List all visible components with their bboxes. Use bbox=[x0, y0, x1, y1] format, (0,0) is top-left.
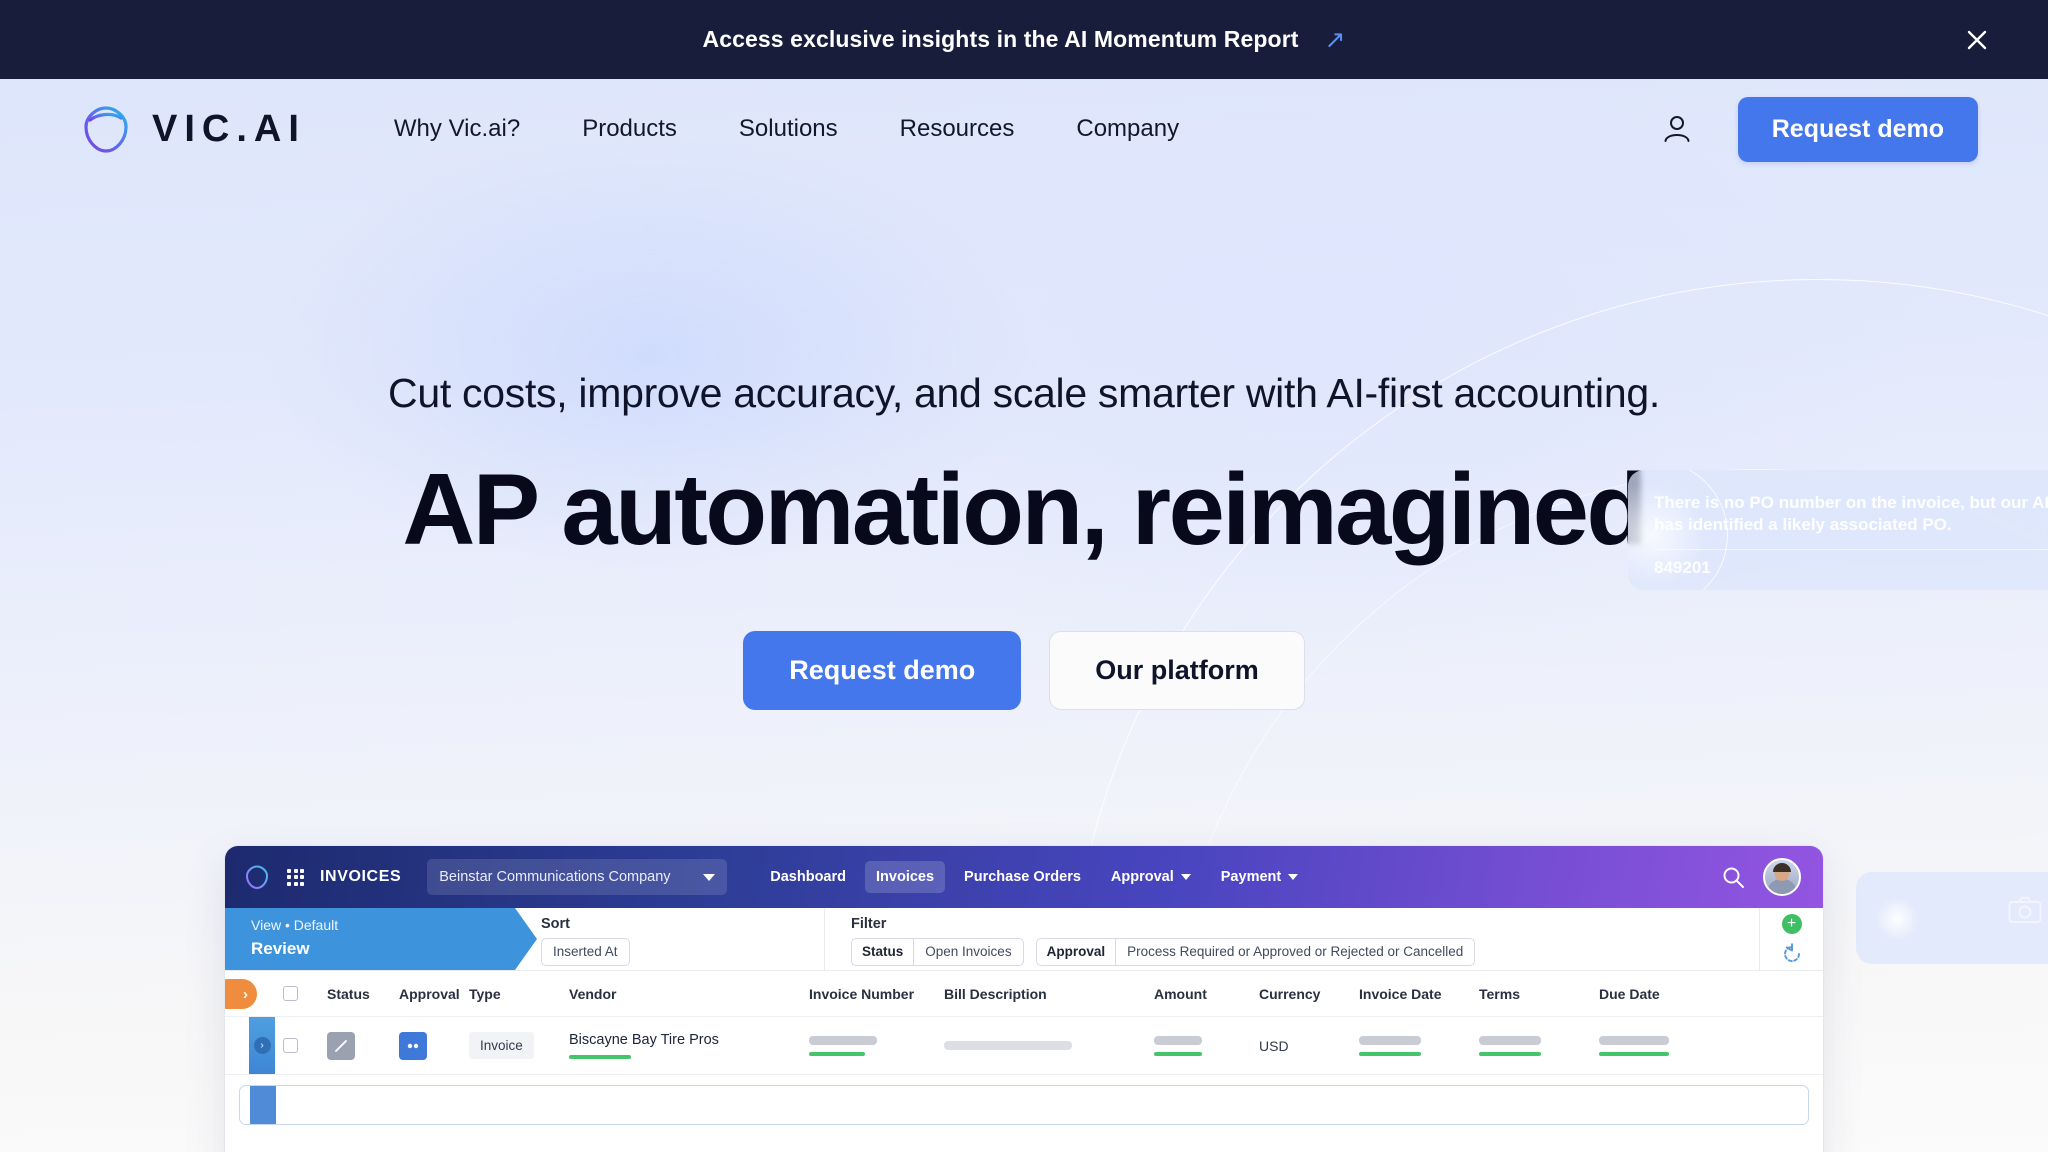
redacted-value bbox=[944, 1041, 1072, 1050]
column-status[interactable]: Status bbox=[327, 986, 399, 1002]
type-tag: Invoice bbox=[469, 1032, 534, 1059]
app-nav-dashboard[interactable]: Dashboard bbox=[759, 861, 857, 893]
app-logo-icon[interactable] bbox=[243, 863, 271, 891]
announcement-link[interactable]: Access exclusive insights in the AI Mome… bbox=[703, 26, 1346, 53]
cell-invoice-number bbox=[809, 1036, 944, 1056]
approval-filter-key: Approval bbox=[1037, 939, 1117, 965]
hero-subheading: Cut costs, improve accuracy, and scale s… bbox=[0, 370, 2048, 417]
app-filterbar: View • Default Review Sort Inserted At F… bbox=[225, 908, 1823, 971]
status-filter-value: Open Invoices bbox=[914, 939, 1022, 965]
cell-amount bbox=[1154, 1036, 1259, 1056]
close-icon[interactable] bbox=[1962, 25, 1992, 55]
apps-grid-icon[interactable] bbox=[287, 869, 304, 886]
camera-icon bbox=[2008, 896, 2042, 924]
page-root: Access exclusive insights in the AI Mome… bbox=[0, 0, 2048, 1152]
cell-bill-description bbox=[944, 1041, 1154, 1050]
ai-po-insight-card: There is no PO number on the invoice, bu… bbox=[1628, 470, 2048, 590]
product-screenshot: INVOICES Beinstar Communications Company… bbox=[224, 845, 1824, 1152]
external-link-arrow-icon: ↗ bbox=[1325, 28, 1346, 53]
cell-approval bbox=[399, 1032, 469, 1060]
chevron-right-icon[interactable]: › bbox=[224, 979, 257, 1009]
column-invoice-date[interactable]: Invoice Date bbox=[1359, 986, 1479, 1002]
column-type[interactable]: Type bbox=[469, 986, 569, 1002]
app-topbar: INVOICES Beinstar Communications Company… bbox=[225, 846, 1823, 908]
filter-title: Filter bbox=[851, 916, 1759, 932]
vic-ai-logo-icon bbox=[78, 101, 134, 157]
sort-section: Sort Inserted At bbox=[515, 908, 825, 970]
logo-wordmark: VIC.AI bbox=[152, 108, 306, 151]
confidence-underline bbox=[1359, 1052, 1421, 1056]
nav-item-company[interactable]: Company bbox=[1076, 115, 1179, 143]
status-filter-pill[interactable]: Status Open Invoices bbox=[851, 938, 1024, 966]
ai-po-values: 849201 0.9 bbox=[1654, 558, 2048, 578]
chevron-down-icon bbox=[1181, 874, 1191, 880]
request-demo-button-header[interactable]: Request demo bbox=[1738, 97, 1978, 162]
cell-type: Invoice bbox=[469, 1032, 569, 1059]
app-nav: Dashboard Invoices Purchase Orders Appro… bbox=[759, 861, 1309, 893]
column-currency[interactable]: Currency bbox=[1259, 986, 1359, 1002]
redacted-value bbox=[1599, 1036, 1669, 1045]
app-nav-payment-label: Payment bbox=[1221, 869, 1281, 885]
app-nav-invoices[interactable]: Invoices bbox=[865, 861, 945, 893]
chevron-down-icon bbox=[703, 874, 715, 881]
approval-filter-pill[interactable]: Approval Process Required or Approved or… bbox=[1036, 938, 1476, 966]
filter-actions: + bbox=[1759, 908, 1823, 970]
table-row[interactable]: › Invoice Biscayne Bay Tire Pros bbox=[225, 1017, 1823, 1075]
cell-status bbox=[327, 1032, 399, 1060]
table-header: › Status Approval Type Vendor Invoice Nu… bbox=[225, 971, 1823, 1017]
app-topbar-actions bbox=[1721, 858, 1823, 896]
person-icon[interactable] bbox=[1660, 112, 1694, 146]
status-icon bbox=[327, 1032, 355, 1060]
status-filter-key: Status bbox=[852, 939, 914, 965]
app-nav-purchase-orders-label: Purchase Orders bbox=[964, 869, 1081, 885]
view-label: View • Default bbox=[251, 917, 515, 933]
select-all-checkbox[interactable] bbox=[283, 986, 298, 1001]
row-expand-handle[interactable]: › bbox=[249, 1017, 275, 1074]
column-invoice-number[interactable]: Invoice Number bbox=[809, 986, 944, 1002]
avatar[interactable] bbox=[1763, 858, 1801, 896]
tenant-select[interactable]: Beinstar Communications Company bbox=[427, 859, 727, 895]
site-logo[interactable]: VIC.AI bbox=[78, 101, 306, 157]
search-icon[interactable] bbox=[1721, 865, 1745, 889]
our-platform-button[interactable]: Our platform bbox=[1049, 631, 1305, 710]
refresh-icon[interactable] bbox=[1781, 943, 1803, 965]
redacted-value bbox=[1359, 1036, 1421, 1045]
cell-due-date bbox=[1599, 1036, 1719, 1056]
primary-nav: Why Vic.ai? Products Solutions Resources… bbox=[394, 115, 1179, 143]
cell-vendor: Biscayne Bay Tire Pros bbox=[569, 1032, 809, 1059]
app-nav-approval-label: Approval bbox=[1111, 869, 1174, 885]
currency-value: USD bbox=[1259, 1038, 1289, 1054]
redacted-value bbox=[1154, 1036, 1202, 1045]
nav-item-why-vicai[interactable]: Why Vic.ai? bbox=[394, 115, 520, 143]
confidence-underline bbox=[1599, 1052, 1669, 1056]
nav-item-products[interactable]: Products bbox=[582, 115, 677, 143]
column-approval[interactable]: Approval bbox=[399, 986, 469, 1002]
request-demo-button-hero[interactable]: Request demo bbox=[743, 631, 1021, 710]
column-terms[interactable]: Terms bbox=[1479, 986, 1599, 1002]
glow-decoration bbox=[1866, 888, 1928, 950]
hero-cta-group: Request demo Our platform bbox=[0, 631, 2048, 710]
announcement-banner[interactable]: Access exclusive insights in the AI Mome… bbox=[0, 0, 2048, 79]
plus-icon[interactable]: + bbox=[1782, 914, 1802, 934]
header-actions: Request demo bbox=[1660, 97, 1978, 162]
nav-item-resources[interactable]: Resources bbox=[900, 115, 1015, 143]
confidence-underline bbox=[1154, 1052, 1202, 1056]
app-nav-invoices-label: Invoices bbox=[876, 869, 934, 885]
app-nav-approval[interactable]: Approval bbox=[1100, 861, 1202, 893]
cell-terms bbox=[1479, 1036, 1599, 1056]
row-checkbox[interactable] bbox=[283, 1038, 298, 1053]
confidence-underline bbox=[1479, 1052, 1541, 1056]
vendor-name: Biscayne Bay Tire Pros bbox=[569, 1032, 809, 1048]
confidence-underline bbox=[809, 1052, 865, 1056]
confidence-underline bbox=[569, 1055, 631, 1059]
ai-capture-card bbox=[1856, 872, 2048, 964]
po-number: 849201 bbox=[1654, 558, 1711, 578]
row-expand-handle[interactable] bbox=[250, 1086, 276, 1124]
chevron-down-icon bbox=[1288, 874, 1298, 880]
tenant-name: Beinstar Communications Company bbox=[439, 869, 670, 885]
ai-po-insight-text: There is no PO number on the invoice, bu… bbox=[1654, 492, 2048, 537]
redacted-value bbox=[1479, 1036, 1541, 1045]
app-nav-purchase-orders[interactable]: Purchase Orders bbox=[953, 861, 1092, 893]
filter-section: Filter Status Open Invoices Approval Pro… bbox=[825, 908, 1759, 970]
view-value: Review bbox=[251, 939, 515, 959]
nav-item-solutions[interactable]: Solutions bbox=[739, 115, 838, 143]
column-due-date[interactable]: Due Date bbox=[1599, 986, 1719, 1002]
redacted-value bbox=[809, 1036, 877, 1045]
view-selector[interactable]: View • Default Review bbox=[225, 908, 515, 970]
site-header: VIC.AI Why Vic.ai? Products Solutions Re… bbox=[0, 79, 2048, 179]
sort-pill[interactable]: Inserted At bbox=[541, 938, 630, 966]
column-amount[interactable]: Amount bbox=[1154, 986, 1259, 1002]
column-bill-description[interactable]: Bill Description bbox=[944, 986, 1154, 1002]
announcement-text: Access exclusive insights in the AI Mome… bbox=[703, 26, 1299, 53]
sort-value: Inserted At bbox=[542, 939, 629, 965]
cell-invoice-date bbox=[1359, 1036, 1479, 1056]
sort-title: Sort bbox=[541, 916, 824, 932]
app-module-label: INVOICES bbox=[320, 868, 401, 886]
approval-filter-value: Process Required or Approved or Rejected… bbox=[1116, 939, 1474, 965]
approval-icon bbox=[399, 1032, 427, 1060]
app-nav-dashboard-label: Dashboard bbox=[770, 869, 846, 885]
column-vendor[interactable]: Vendor bbox=[569, 986, 809, 1002]
table-row[interactable] bbox=[239, 1085, 1809, 1125]
cell-currency: USD bbox=[1259, 1038, 1359, 1054]
app-nav-payment[interactable]: Payment bbox=[1210, 861, 1309, 893]
